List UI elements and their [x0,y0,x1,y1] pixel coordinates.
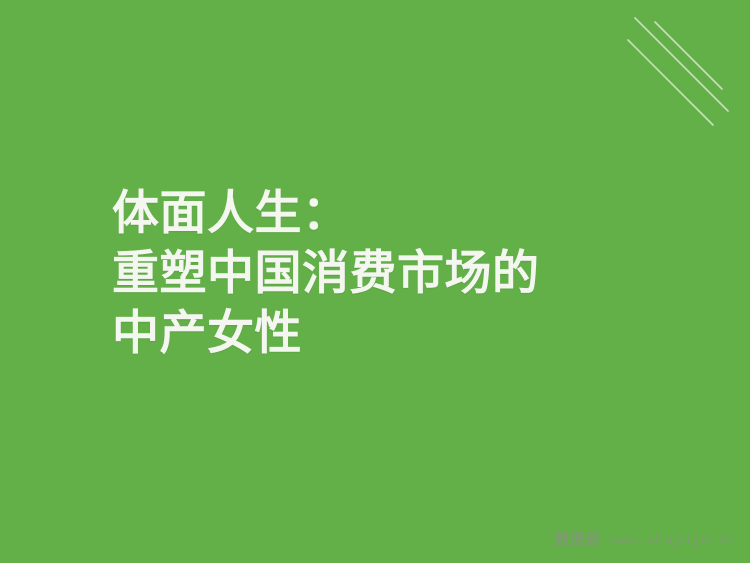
page-title: 体面人生： 重塑中国消费市场的 中产女性 [112,183,692,363]
watermark-url: www.shujuju.cn [610,533,736,549]
watermark-brand: 数据局 [554,528,601,549]
diagonal-line-1 [635,18,728,111]
slide-canvas: 体面人生： 重塑中国消费市场的 中产女性 数据局 www.shujuju.cn [0,0,750,563]
diagonal-line-3 [628,40,713,125]
title-line-2: 重塑中国消费市场的 [112,243,692,303]
watermark: 数据局 www.shujuju.cn [0,528,736,549]
diagonal-lines-decoration [610,0,750,140]
title-line-3: 中产女性 [112,303,692,363]
title-line-1: 体面人生： [112,183,692,243]
diagonal-line-2 [655,22,722,89]
